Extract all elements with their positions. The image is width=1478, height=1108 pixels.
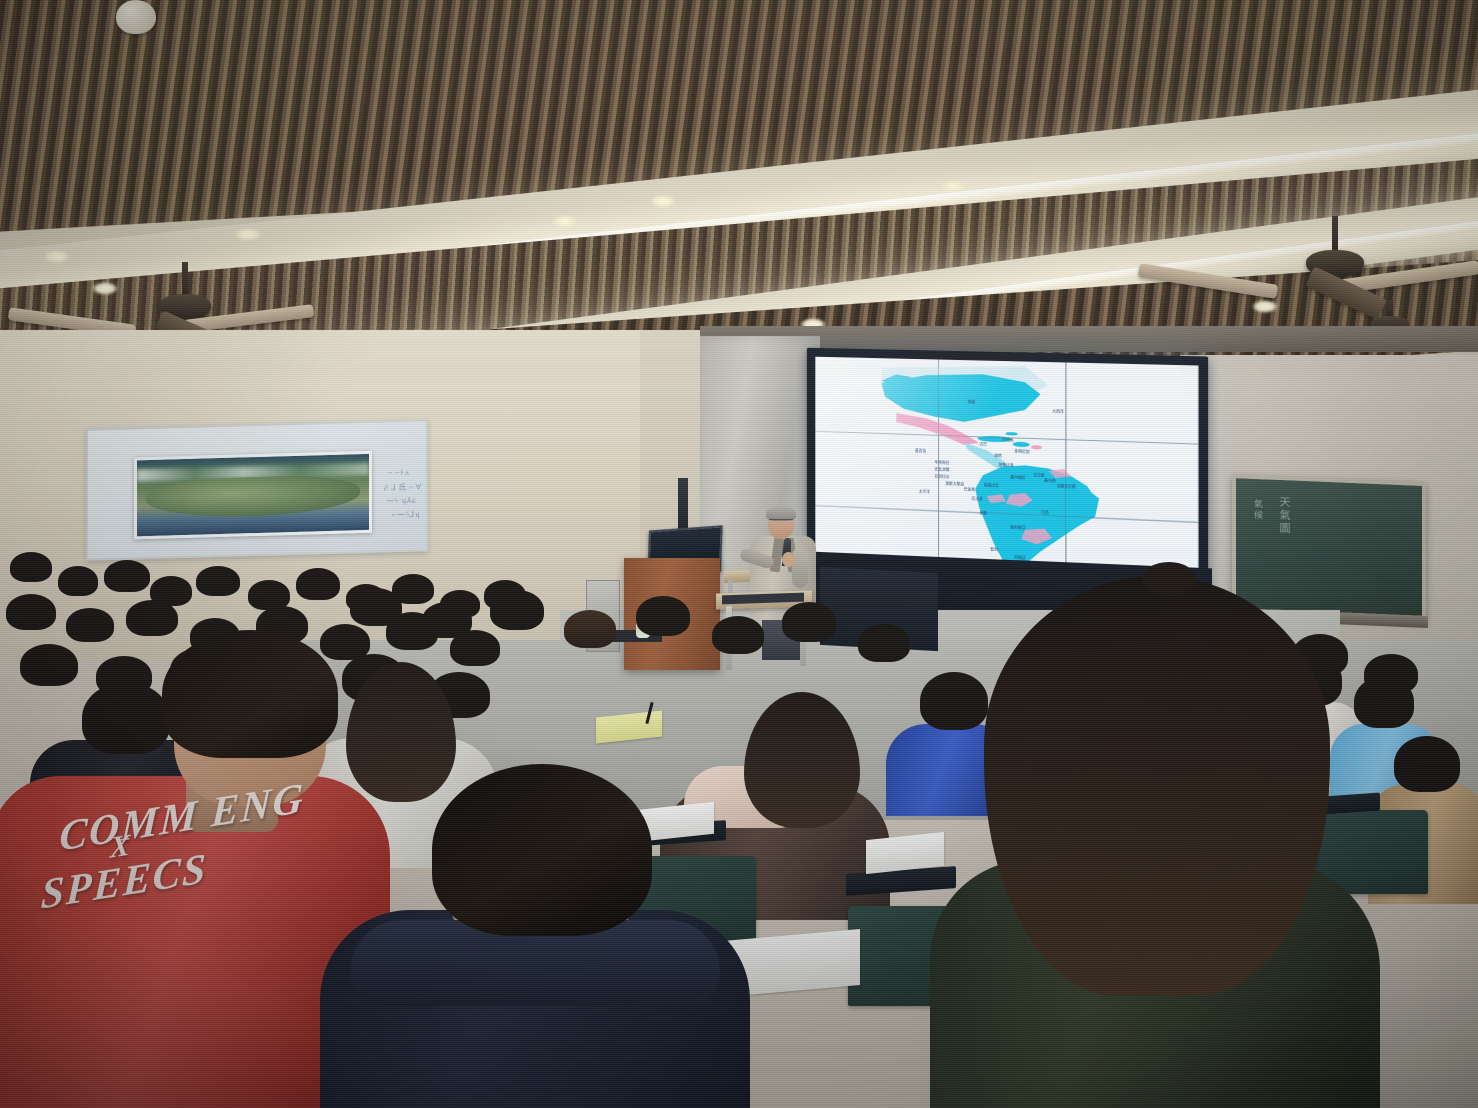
map-country-label: 海地 <box>995 453 1003 459</box>
map-country-label: 尼加拉瓜 <box>934 474 949 480</box>
olive-jacket-student <box>930 560 1380 1108</box>
map-country-label: 厄瓜多 <box>972 496 983 502</box>
recessed-downlight-icon <box>650 195 676 208</box>
long-hair <box>984 576 1330 996</box>
chalkboard-writing: 天氣圖 <box>1276 496 1292 536</box>
whiteboard-handwriting: ⁓ϟ ʮ⅄ɕ <box>386 496 416 506</box>
hair-topknot <box>1142 562 1196 596</box>
map-country-label: 多明尼加 <box>1014 449 1029 455</box>
map-country-label: 美國 <box>968 399 975 405</box>
map-country-label: 哥斯大黎加 <box>945 481 964 487</box>
map-country-label: 太平洋 <box>919 489 930 495</box>
chalkboard-writing-secondary: 氣候 <box>1252 499 1265 522</box>
map-country-label: 委內瑞拉 <box>1010 474 1025 480</box>
recessed-downlight-icon <box>44 250 70 263</box>
map-country-label: 秘魯 <box>979 510 987 516</box>
hair <box>432 764 652 936</box>
map-country-label: 哥倫比亞 <box>983 482 998 488</box>
map-country-label: 法屬圭亞那 <box>1057 483 1076 490</box>
eyeglasses-icon <box>769 519 793 524</box>
map-country-label: 巴西 <box>1041 510 1049 516</box>
map-country-label: 蘇利南 <box>1045 478 1056 484</box>
whiteboard-handwriting: ~ ⌐⊦ʌ <box>388 468 410 478</box>
recessed-downlight-icon <box>235 228 261 241</box>
map-country-label: 牟地馬拉 <box>934 460 949 466</box>
aerial-photo-poster <box>134 451 372 540</box>
map-country-label: 玻利維亞 <box>1010 525 1025 531</box>
map-country-label: 巴拿馬 <box>964 486 975 492</box>
whiteboard-handwriting: ⌐⁓ϟ⅃ʮ <box>392 509 420 519</box>
map-country-label: 巴哈馬 <box>1002 437 1013 443</box>
lecturer-hand <box>782 552 795 567</box>
map-country-label: 史瓦濟爾 <box>934 467 949 473</box>
map-country-label: 智利 <box>991 547 999 553</box>
hair <box>162 630 338 758</box>
lecture-hall-photo: ~ ⌐⊦ʌ ∂ ⅃ 氏 ⌐∀ ⁓ϟ ʮ⅄ɕ ⌐⁓ϟ⅃ʮ 天氣圖 氣候 <box>0 0 1478 1108</box>
navy-hoodie-student <box>320 770 750 1108</box>
map-country-label: 大西洋 <box>1052 409 1063 415</box>
map-country-label: 圭亞那 <box>1033 473 1044 479</box>
map-country-label: 古巴 <box>979 441 987 447</box>
whiteboard-handwriting: ∂ ⅃ 氏 ⌐∀ <box>384 481 423 493</box>
recessed-downlight-icon <box>552 215 578 228</box>
recessed-downlight-icon <box>940 180 966 193</box>
smoke-detector-icon <box>116 0 156 34</box>
map-country-label: 加勒比海 <box>999 462 1014 468</box>
map-country-label: 墨西哥 <box>915 448 926 454</box>
